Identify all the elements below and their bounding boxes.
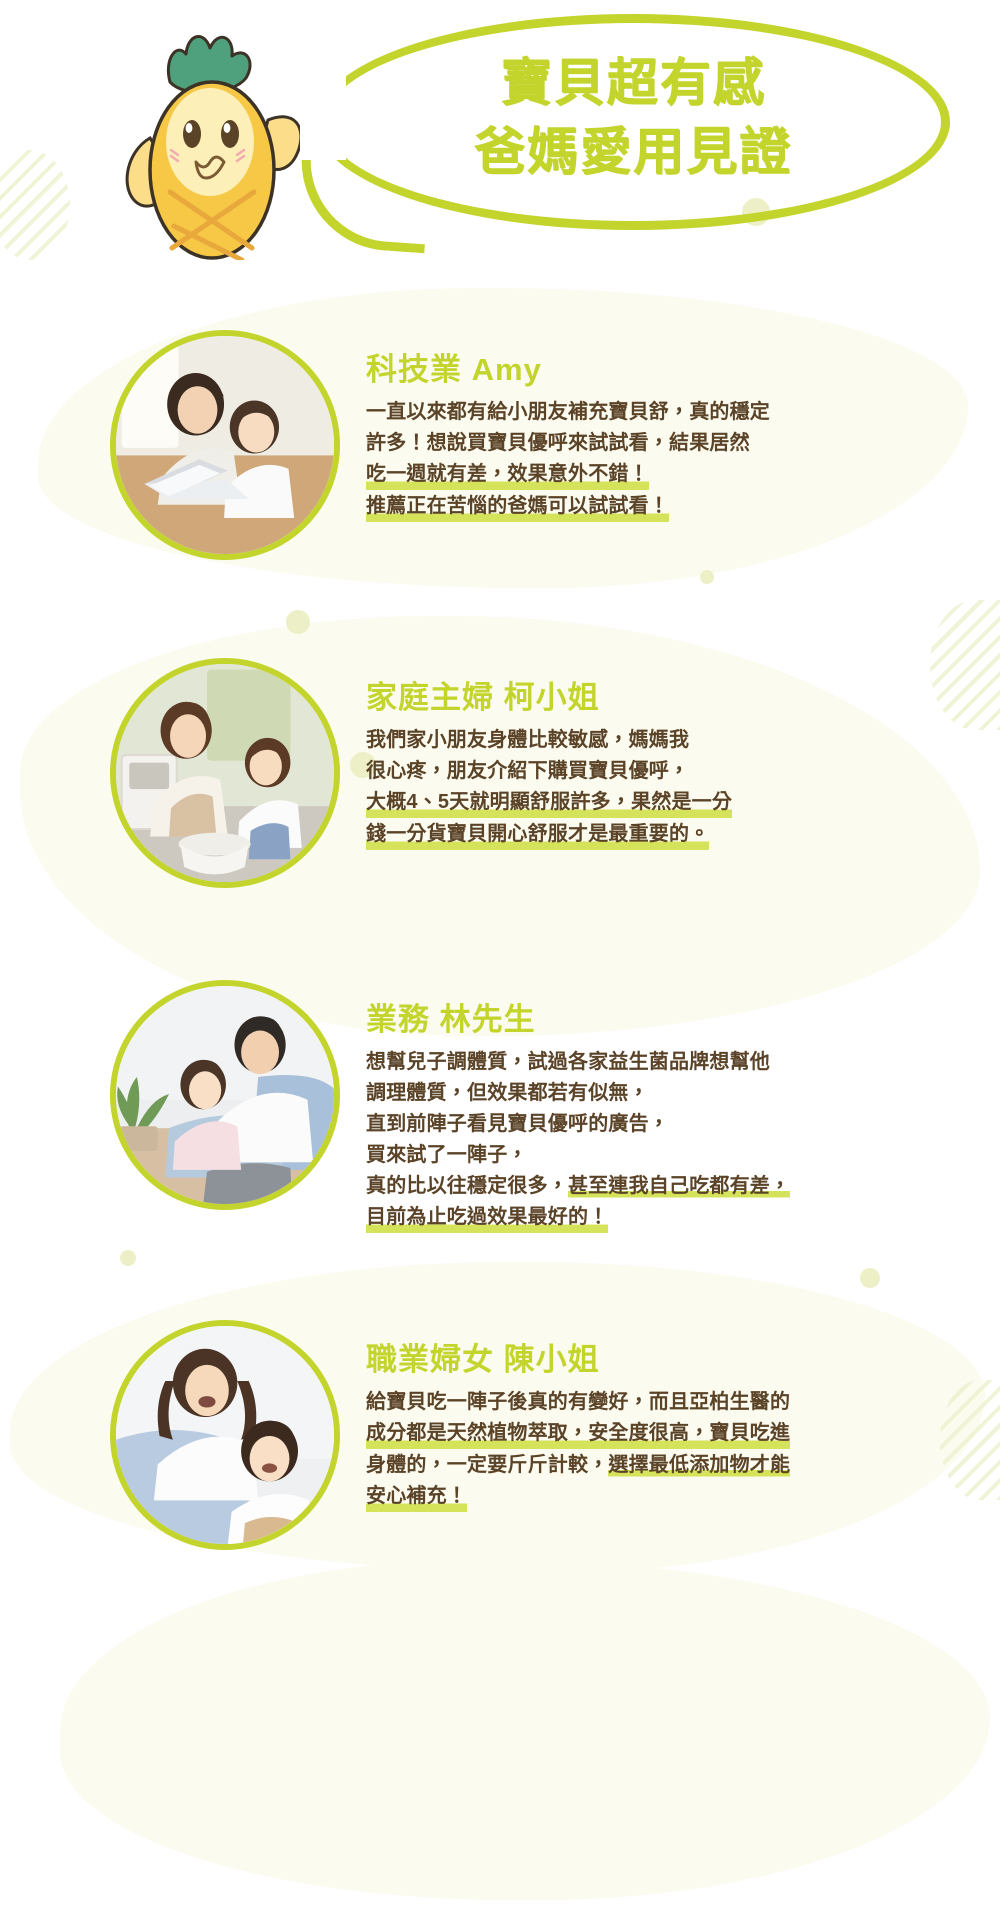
testimonial-quote-2: 我們家小朋友身體比較敏感，媽媽我 很心疼，朋友介紹下購買寶貝優呼， 大概4、5天… (366, 725, 990, 851)
quote-line-highlighted: 成分都是天然植物萃取，安全度很高，寶貝吃進 (366, 1418, 790, 1450)
page-title: 寶貝超有感 爸媽愛用見證 (330, 48, 936, 186)
mother-and-daughter-smiling-photo (116, 1326, 334, 1544)
testimonial-quote-1: 一直以來都有給小朋友補充寶貝舒，真的穩定 許多！想說買寶貝優呼來試試看，結果居然… (366, 397, 990, 523)
testimonial-name-2: 家庭主婦 柯小姐 (366, 680, 990, 716)
testimonial-name-1: 科技業 Amy (366, 352, 990, 388)
quote-line-partial: 身體的，一定要斤斤計較，選擇最低添加物才能 (366, 1450, 790, 1481)
page-header: 寶貝超有感 爸媽愛用見證 (0, 0, 1000, 280)
avatar-3 (110, 980, 340, 1210)
background-blob-4 (60, 1560, 990, 1900)
dot-decoration-2 (286, 610, 310, 634)
quote-line-highlighted: 大概4、5天就明顯舒服許多，果然是一分 (366, 787, 732, 819)
quote-line: 調理體質，但效果都若有似無， (366, 1078, 649, 1109)
quote-line-partial: 真的比以往穩定很多，甚至連我自己吃都有差， (366, 1171, 790, 1202)
father-playing-with-baby-photo (116, 986, 334, 1204)
testimonial-content-2: 家庭主婦 柯小姐 我們家小朋友身體比較敏感，媽媽我 很心疼，朋友介紹下購買寶貝優… (340, 658, 990, 851)
quote-line-highlighted: 錢一分貨寶貝開心舒服才是最重要的。 (366, 819, 709, 851)
quote-line-highlighted: 安心補充！ (366, 1481, 467, 1513)
quote-line: 我們家小朋友身體比較敏感，媽媽我 (366, 725, 689, 756)
quote-line: 許多！想說買寶貝優呼來試試看，結果居然 (366, 428, 750, 459)
quote-line: 想幫兒子調體質，試過各家益生菌品牌想幫他 (366, 1047, 770, 1078)
testimonial-content-4: 職業婦女 陳小姐 給寶貝吃一陣子後真的有變好，而且亞柏生醫的 成分都是天然植物萃… (340, 1320, 990, 1513)
quote-line: 一直以來都有給小朋友補充寶貝舒，真的穩定 (366, 397, 770, 428)
quote-text-highlighted: 選擇最低添加物才能 (608, 1454, 790, 1477)
quote-line-highlighted: 吃一週就有差，效果意外不錯！ (366, 459, 649, 491)
avatar-2 (110, 658, 340, 888)
testimonial-row-2: 家庭主婦 柯小姐 我們家小朋友身體比較敏感，媽媽我 很心疼，朋友介紹下購買寶貝優… (110, 658, 990, 888)
quote-text-highlighted: 甚至連我自己吃都有差， (568, 1175, 790, 1198)
quote-line: 直到前陣子看見寶貝優呼的廣告， (366, 1109, 669, 1140)
testimonial-content-1: 科技業 Amy 一直以來都有給小朋友補充寶貝舒，真的穩定 許多！想說買寶貝優呼來… (340, 330, 990, 523)
testimonial-name-4: 職業婦女 陳小姐 (366, 1342, 990, 1378)
testimonial-content-3: 業務 林先生 想幫兒子調體質，試過各家益生菌品牌想幫他 調理體質，但效果都若有似… (340, 980, 990, 1234)
quote-line-highlighted: 目前為止吃過效果最好的！ (366, 1202, 608, 1234)
testimonial-page: 寶貝超有感 爸媽愛用見證 (0, 0, 1000, 1919)
testimonial-row-3: 業務 林先生 想幫兒子調體質，試過各家益生菌品牌想幫他 調理體質，但效果都若有似… (110, 980, 990, 1234)
dot-decoration-5 (860, 1268, 880, 1288)
avatar-wrap-1 (110, 330, 340, 560)
quote-text-plain: 身體的，一定要斤斤計較， (366, 1454, 608, 1476)
mother-and-daughter-cooking-photo (116, 664, 334, 882)
quote-line: 很心疼，朋友介紹下購買寶貝優呼， (366, 756, 689, 787)
avatar-wrap-3 (110, 980, 340, 1210)
mother-and-toddler-with-laptop-photo (116, 336, 334, 554)
avatar-1 (110, 330, 340, 560)
quote-line: 給寶貝吃一陣子後真的有變好，而且亞柏生醫的 (366, 1387, 790, 1418)
testimonial-quote-4: 給寶貝吃一陣子後真的有變好，而且亞柏生醫的 成分都是天然植物萃取，安全度很高，寶… (366, 1387, 990, 1513)
dot-decoration-3 (700, 570, 714, 584)
dot-decoration-6 (120, 1250, 136, 1266)
avatar-wrap-4 (110, 1320, 340, 1550)
testimonial-row-4: 職業婦女 陳小姐 給寶貝吃一陣子後真的有變好，而且亞柏生醫的 成分都是天然植物萃… (110, 1320, 990, 1550)
avatar-4 (110, 1320, 340, 1550)
avatar-wrap-2 (110, 658, 340, 888)
quote-line: 買來試了一陣子， (366, 1140, 528, 1171)
testimonial-name-3: 業務 林先生 (366, 1002, 990, 1038)
quote-text-plain: 真的比以往穩定很多， (366, 1175, 568, 1197)
quote-line-highlighted: 推薦正在苦惱的爸媽可以試試看！ (366, 491, 669, 523)
testimonial-quote-3: 想幫兒子調體質，試過各家益生菌品牌想幫他 調理體質，但效果都若有似無， 直到前陣… (366, 1047, 990, 1234)
testimonial-row-1: 科技業 Amy 一直以來都有給小朋友補充寶貝舒，真的穩定 許多！想說買寶貝優呼來… (110, 330, 990, 560)
